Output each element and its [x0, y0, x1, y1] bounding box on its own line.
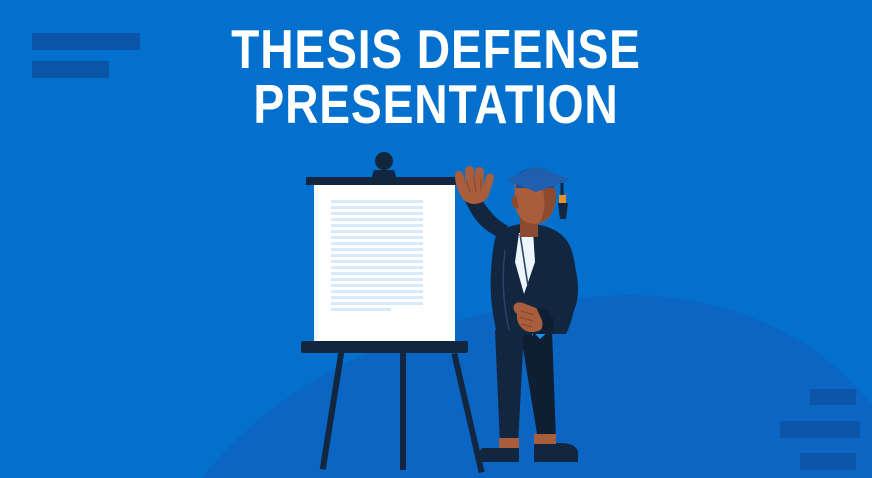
flipchart-top-knob [375, 152, 393, 170]
person-ankle-front [499, 438, 519, 448]
graduation-cap-tassel-button [559, 195, 566, 203]
flipchart-board-shadow [314, 185, 318, 344]
flipchart-bottom-bar [301, 341, 468, 353]
slide-title-line-1: THESIS DEFENSE [70, 22, 802, 77]
easel-legs [320, 352, 485, 473]
person-leg-back [520, 330, 556, 440]
slide-title: THESIS DEFENSE PRESENTATION [0, 22, 872, 132]
easel-leg-center [400, 352, 406, 470]
slide-title-line-2: PRESENTATION [70, 77, 802, 132]
person-ankle-back [534, 434, 556, 444]
slide-canvas: THESIS DEFENSE PRESENTATION [0, 0, 872, 478]
easel-leg-left [320, 352, 344, 469]
person-hand-raised [455, 166, 494, 204]
person-graduate [455, 166, 578, 462]
person-shoe-front [478, 448, 519, 462]
person-leg-front [495, 330, 524, 445]
person-shoe-back [534, 443, 578, 462]
flipchart-top-bar [306, 177, 463, 185]
flipchart [301, 152, 468, 353]
graduation-cap-board [505, 166, 570, 192]
graduation-cap-tassel [558, 203, 568, 219]
